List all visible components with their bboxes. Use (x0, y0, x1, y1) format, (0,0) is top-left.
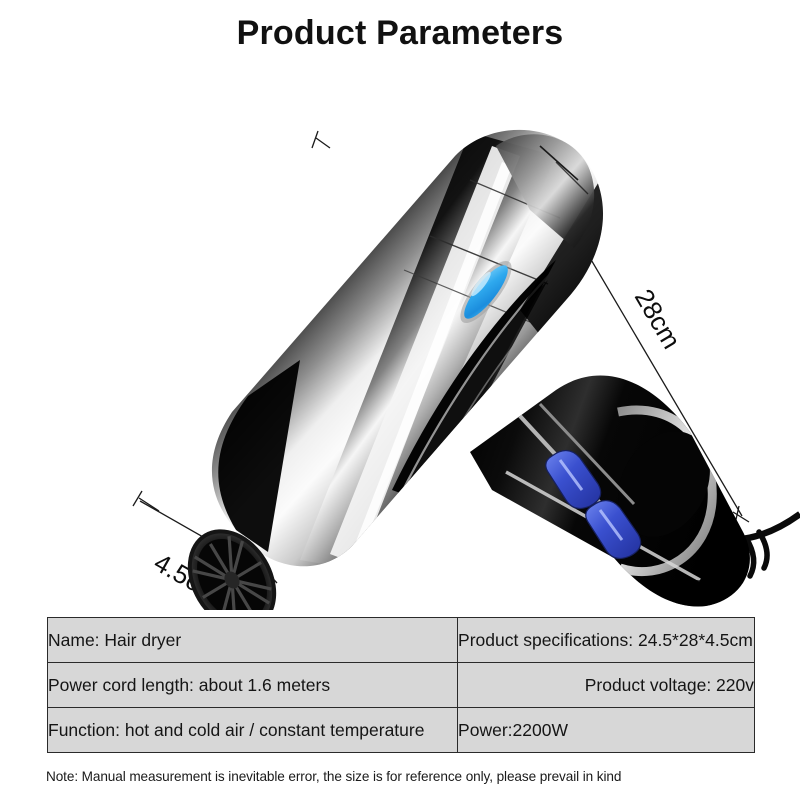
spec-table: Name: Hair dryer Product specifications:… (47, 617, 755, 753)
dryer-handle (470, 376, 760, 610)
spec-specifications-value: Product specifications: 24.5*28*4.5cm (458, 618, 755, 663)
product-illustration: 4.5cm 24.5cm 2 (0, 60, 800, 610)
table-row: Power cord length: about 1.6 meters Prod… (48, 663, 755, 708)
footer-note: Note: Manual measurement is inevitable e… (46, 769, 776, 784)
table-row: Function: hot and cold air / constant te… (48, 708, 755, 753)
page-title: Product Parameters (0, 14, 800, 53)
table-row: Name: Hair dryer Product specifications:… (48, 618, 755, 663)
spec-power-value: Power:2200W (458, 708, 755, 753)
dimension-label-height: 28cm (629, 284, 687, 354)
spec-function-label: Function: hot and cold air / constant te… (48, 708, 458, 753)
spec-voltage-value: Product voltage: 220v (458, 663, 755, 708)
hair-dryer-illustration: 4.5cm 24.5cm 2 (0, 60, 800, 610)
product-parameters-page: Product Parameters (0, 0, 800, 800)
spec-name-label: Name: Hair dryer (48, 618, 458, 663)
spec-cord-length-label: Power cord length: about 1.6 meters (48, 663, 458, 708)
